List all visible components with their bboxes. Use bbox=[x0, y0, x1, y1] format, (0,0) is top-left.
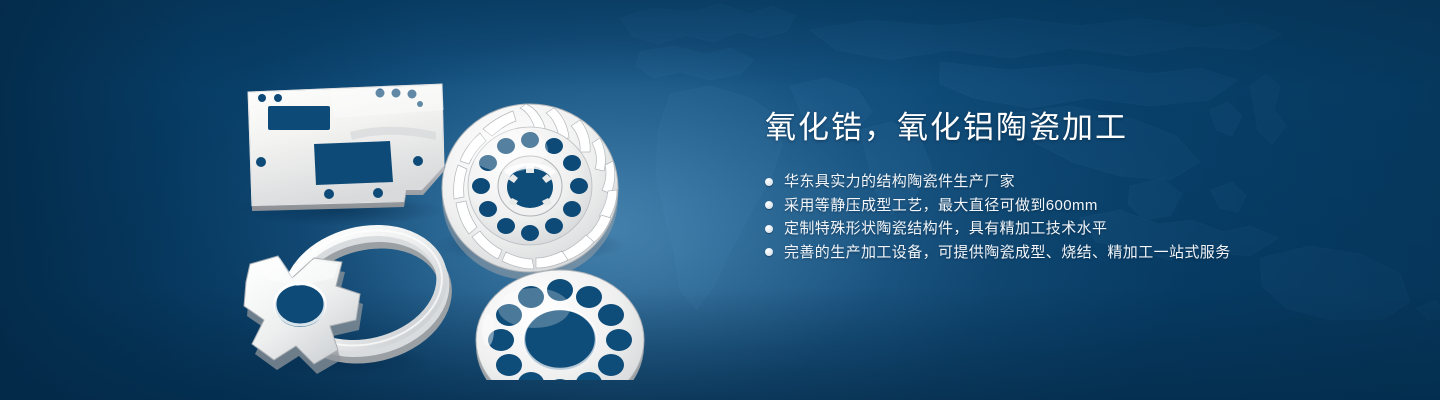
feature-list: 华东具实力的结构陶瓷件生产厂家 采用等静压成型工艺，最大直径可做到600mm 定… bbox=[765, 170, 1385, 264]
list-item: 完善的生产加工设备，可提供陶瓷成型、烧结、精加工一站式服务 bbox=[765, 241, 1385, 265]
bullet-dot-icon bbox=[765, 225, 773, 233]
ceramic-perforated-disc bbox=[476, 270, 644, 380]
bullet-dot-icon bbox=[765, 201, 773, 209]
feature-text: 定制特殊形状陶瓷结构件，具有精加工技术水平 bbox=[784, 217, 1107, 241]
hero-banner: 氧化锆，氧化铝陶瓷加工 华东具实力的结构陶瓷件生产厂家 采用等静压成型工艺，最大… bbox=[0, 0, 1440, 400]
product-photo-group bbox=[230, 40, 700, 380]
bullet-dot-icon bbox=[765, 248, 773, 256]
list-item: 华东具实力的结构陶瓷件生产厂家 bbox=[765, 170, 1385, 194]
list-item: 采用等静压成型工艺，最大直径可做到600mm bbox=[765, 194, 1385, 218]
feature-text: 完善的生产加工设备，可提供陶瓷成型、烧结、精加工一站式服务 bbox=[784, 241, 1231, 265]
list-item: 定制特殊形状陶瓷结构件，具有精加工技术水平 bbox=[765, 217, 1385, 241]
feature-text: 华东具实力的结构陶瓷件生产厂家 bbox=[784, 170, 1015, 194]
page-title: 氧化锆，氧化铝陶瓷加工 bbox=[765, 108, 1385, 148]
feature-text: 采用等静压成型工艺，最大直径可做到600mm bbox=[784, 194, 1098, 218]
ceramic-plate bbox=[248, 84, 444, 211]
bullet-dot-icon bbox=[765, 178, 773, 186]
ceramic-impeller bbox=[442, 104, 618, 280]
banner-text-block: 氧化锆，氧化铝陶瓷加工 华东具实力的结构陶瓷件生产厂家 采用等静压成型工艺，最大… bbox=[765, 108, 1385, 264]
